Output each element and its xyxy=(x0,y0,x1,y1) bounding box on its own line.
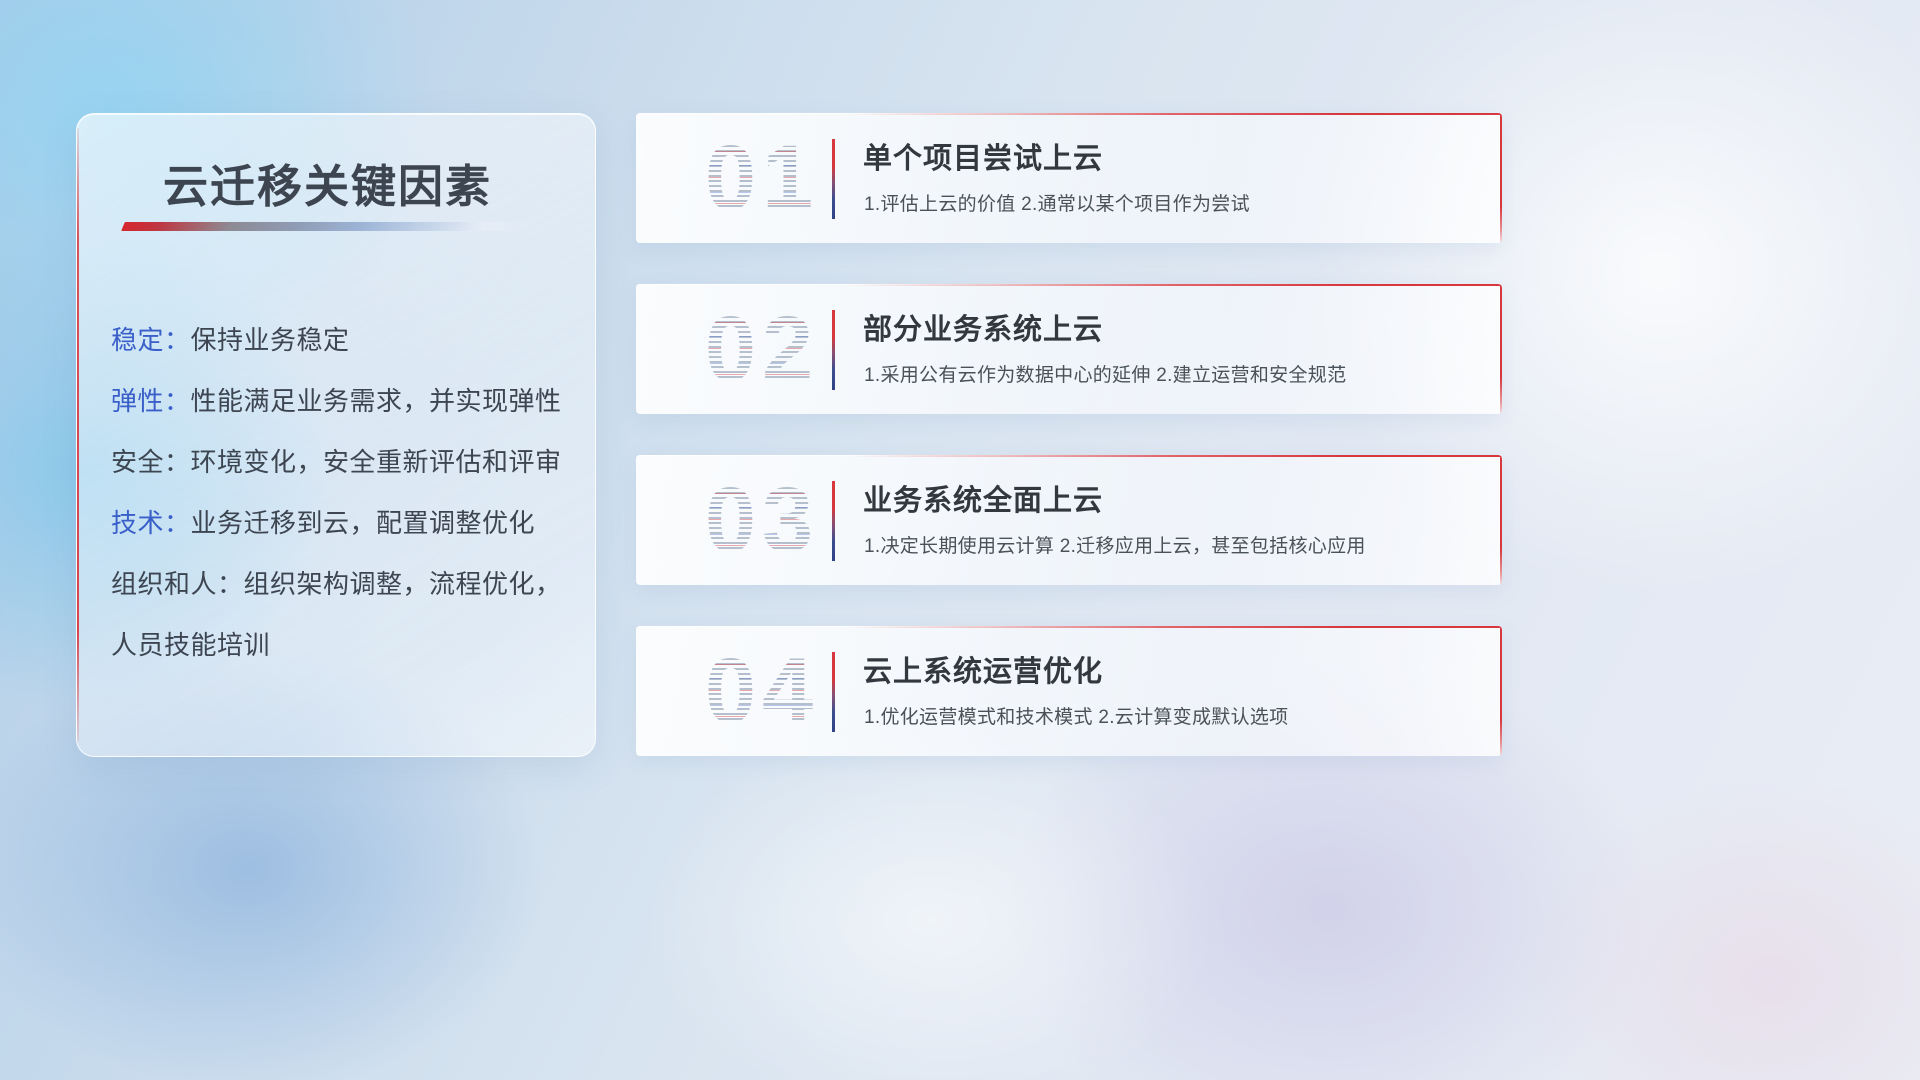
stage-card[interactable]: 04 04 云上系统运营优化 1.优化运营模式和技术模式 2.云计算变成默认选项 xyxy=(636,626,1502,756)
factor-label: 安全： xyxy=(111,447,191,477)
factor-text: 业务迁移到云，配置调整优化 xyxy=(191,508,536,538)
card-divider xyxy=(832,139,835,219)
card-title: 业务系统全面上云 xyxy=(863,477,1103,519)
card-description: 1.优化运营模式和技术模式 2.云计算变成默认选项 xyxy=(864,702,1288,729)
factor-item: 弹性：性能满足业务需求，并实现弹性 xyxy=(111,371,581,432)
factor-item: 稳定：保持业务稳定 xyxy=(111,310,581,371)
factor-item-continuation: 人员技能培训 xyxy=(111,615,581,676)
factor-text: 环境变化，安全重新评估和评审 xyxy=(191,447,562,477)
card-description: 1.采用公有云作为数据中心的延伸 2.建立运营和安全规范 xyxy=(864,360,1346,387)
title-underline-bar xyxy=(121,222,535,231)
stage-card[interactable]: 02 02 部分业务系统上云 1.采用公有云作为数据中心的延伸 2.建立运营和安… xyxy=(636,284,1502,414)
card-divider xyxy=(832,652,835,732)
card-description: 1.决定长期使用云计算 2.迁移应用上云，甚至包括核心应用 xyxy=(864,531,1366,558)
card-title: 云上系统运营优化 xyxy=(863,648,1103,690)
slide-canvas: 云迁移关键因素 稳定：保持业务稳定 弹性：性能满足业务需求，并实现弹性 安全：环… xyxy=(0,0,1920,1080)
stage-card[interactable]: 01 01 单个项目尝试上云 1.评估上云的价值 2.通常以某个项目作为尝试 xyxy=(636,113,1502,243)
factor-item: 技术：业务迁移到云，配置调整优化 xyxy=(111,493,581,554)
factor-text: 性能满足业务需求，并实现弹性 xyxy=(191,386,562,416)
factor-label: 弹性： xyxy=(111,386,191,416)
factor-label: 组织和人： xyxy=(111,569,244,599)
key-factors-panel: 云迁移关键因素 稳定：保持业务稳定 弹性：性能满足业务需求，并实现弹性 安全：环… xyxy=(76,113,596,757)
factor-item: 组织和人：组织架构调整，流程优化， xyxy=(111,554,581,615)
stage-card[interactable]: 03 03 业务系统全面上云 1.决定长期使用云计算 2.迁移应用上云，甚至包括… xyxy=(636,455,1502,585)
card-title: 单个项目尝试上云 xyxy=(863,135,1103,177)
factor-list: 稳定：保持业务稳定 弹性：性能满足业务需求，并实现弹性 安全：环境变化，安全重新… xyxy=(111,310,581,676)
panel-accent-bar xyxy=(77,128,79,742)
factor-text: 人员技能培训 xyxy=(111,630,270,660)
card-divider xyxy=(832,310,835,390)
factor-item: 安全：环境变化，安全重新评估和评审 xyxy=(111,432,581,493)
card-title: 部分业务系统上云 xyxy=(863,306,1103,348)
factor-text: 保持业务稳定 xyxy=(191,325,350,355)
factor-text: 组织架构调整，流程优化， xyxy=(244,569,562,599)
card-description: 1.评估上云的价值 2.通常以某个项目作为尝试 xyxy=(864,189,1250,216)
factor-label: 技术： xyxy=(111,508,191,538)
page-title: 云迁移关键因素 xyxy=(163,150,492,215)
factor-label: 稳定： xyxy=(111,325,191,355)
card-divider xyxy=(832,481,835,561)
stage-card-list: 01 01 单个项目尝试上云 1.评估上云的价值 2.通常以某个项目作为尝试 0… xyxy=(636,113,1502,797)
